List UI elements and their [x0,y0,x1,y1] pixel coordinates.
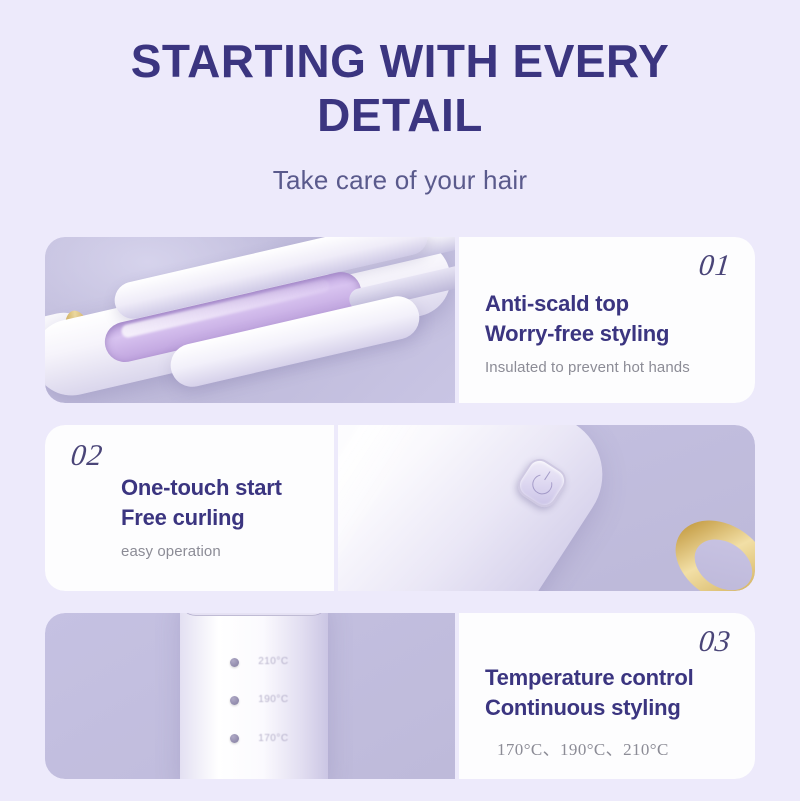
feature-title-2-line-1: One-touch start [121,475,282,500]
curler-cap [180,613,328,616]
feature-title-1-line-2: Worry-free styling [485,321,669,346]
led-indicator-low [230,734,239,743]
temp-label-mid: 190°C [258,694,288,705]
temp-label-high: 210°C [258,656,288,667]
feature-list: 01 Anti-scald top Worry-free styling Ins… [45,237,755,801]
feature-title-3: Temperature control Continuous styling [485,663,694,722]
product-photo-temperature-indicator: 210°C 190°C 170°C [45,613,455,779]
page-subtitle: Take care of your hair [0,165,800,196]
product-photo-power-button [338,425,755,591]
curler-barrel [180,613,328,779]
feature-row-2: 02 One-touch start Free curling easy ope… [45,425,755,591]
headline-line-1: STARTING WITH EVERY [131,35,670,87]
feature-title-2: One-touch start Free curling [121,473,282,532]
page-title: STARTING WITH EVERY DETAIL [0,34,800,143]
feature-title-3-line-2: Continuous styling [485,695,681,720]
product-photo-curler-barrel [45,237,455,403]
gold-band-accent [660,503,755,591]
feature-desc-1: Insulated to prevent hot hands [485,359,690,376]
feature-desc-2: easy operation [121,543,221,560]
headline-line-2: DETAIL [60,88,740,142]
temp-label-low: 170°C [258,733,288,744]
feature-title-1-line-1: Anti-scald top [485,291,629,316]
led-indicator-mid [230,696,239,705]
feature-number-01: 01 [697,249,733,283]
feature-title-1: Anti-scald top Worry-free styling [485,289,669,348]
feature-title-2-line-2: Free curling [121,505,245,530]
feature-row-1: 01 Anti-scald top Worry-free styling Ins… [45,237,755,403]
feature-title-3-line-1: Temperature control [485,665,694,690]
feature-desc-3: 170°C、190°C、210°C [497,735,669,760]
feature-row-3: 210°C 190°C 170°C 03 Temperature control… [45,613,755,779]
page-header: STARTING WITH EVERY DETAIL Take care of … [0,0,800,196]
led-indicator-high [230,658,239,667]
feature-number-03: 03 [697,625,733,659]
feature-card-2: 02 One-touch start Free curling easy ope… [45,425,334,591]
feature-number-02: 02 [69,439,105,473]
feature-card-3: 03 Temperature control Continuous stylin… [459,613,755,779]
feature-card-1: 01 Anti-scald top Worry-free styling Ins… [459,237,755,403]
